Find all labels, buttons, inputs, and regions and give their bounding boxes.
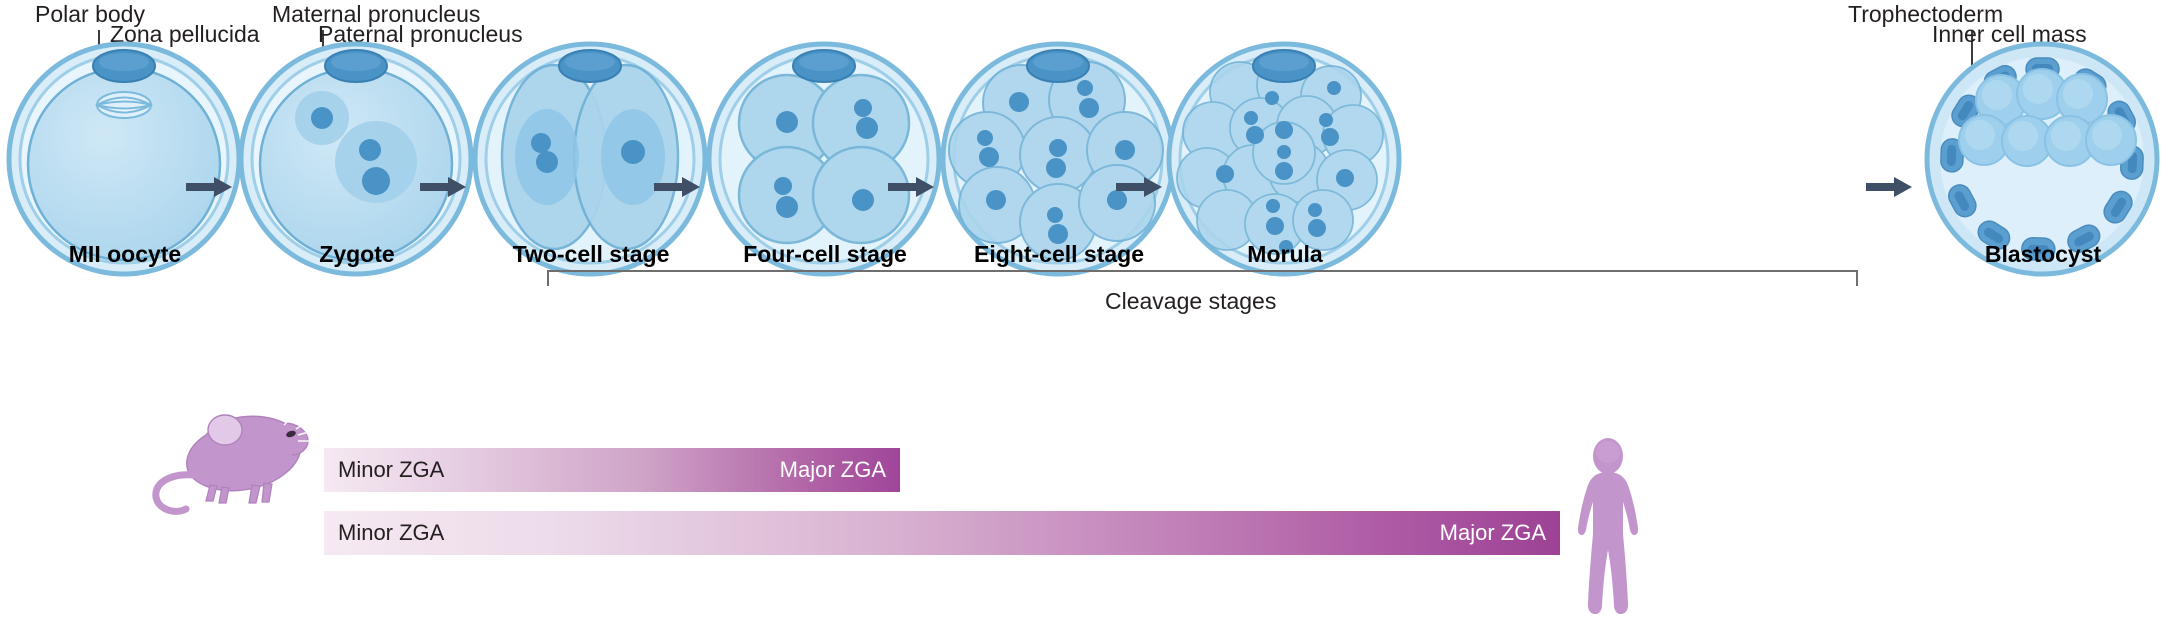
stage-label-four-cell-stage: Four-cell stage	[700, 241, 950, 268]
zga-minor-label-human: Minor ZGA	[338, 520, 444, 546]
stage-label-morula: Morula	[1160, 241, 1410, 268]
bracket-horizontal-line	[547, 270, 1858, 272]
cleavage-stages-bracket	[547, 270, 1858, 288]
arrow-oocyte-to-zygote	[186, 175, 232, 199]
zga-minor-label-mouse: Minor ZGA	[338, 457, 444, 483]
arrow-eight-cell-to-morula	[1116, 175, 1162, 199]
arrow-zygote-to-two-cell	[420, 175, 466, 199]
stage-label-two-cell-stage: Two-cell stage	[466, 241, 716, 268]
cleavage-stages-label: Cleavage stages	[1105, 288, 1276, 315]
stage-label-eight-cell-stage: Eight-cell stage	[934, 241, 1184, 268]
arrow-four-cell-to-eight-cell	[888, 175, 934, 199]
mouse-icon	[148, 405, 318, 515]
stage-label-blastocyst: Blastocyst	[1918, 241, 2168, 268]
stage-label-zygote: Zygote	[232, 241, 482, 268]
stage-label-mii-oocyte: MII oocyte	[0, 241, 250, 268]
zga-major-label-human: Major ZGA	[1440, 520, 1546, 546]
zga-major-label-mouse: Major ZGA	[780, 457, 886, 483]
zga-bar-human: Minor ZGA Major ZGA	[324, 511, 1560, 555]
bracket-right-tick	[1856, 270, 1858, 286]
arrow-morula-to-blastocyst	[1866, 175, 1912, 199]
human-icon	[1560, 438, 1656, 621]
zga-bar-mouse: Minor ZGA Major ZGA	[324, 448, 900, 492]
bracket-left-tick	[547, 270, 549, 286]
arrow-two-cell-to-four-cell	[654, 175, 700, 199]
